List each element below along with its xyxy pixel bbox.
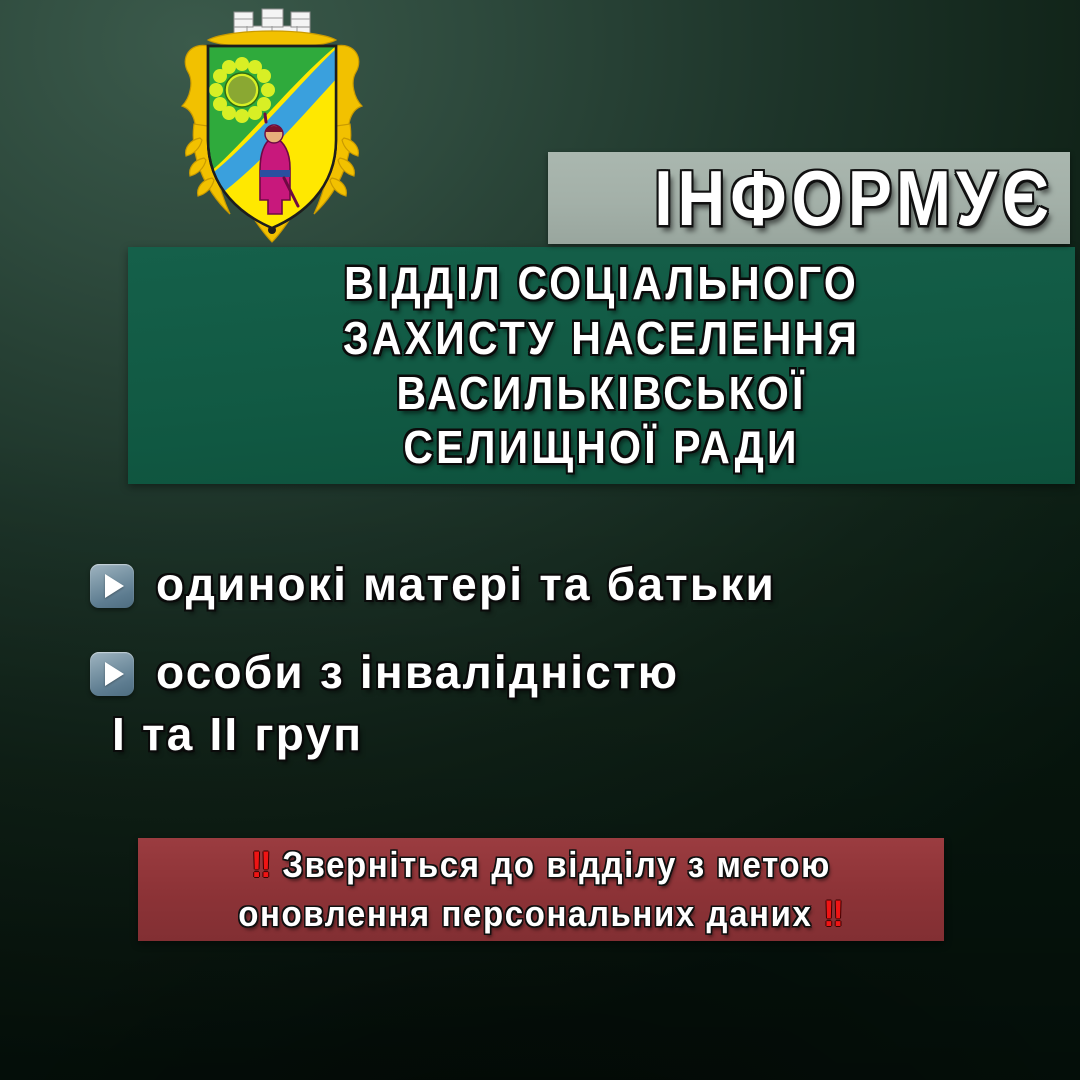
alert-line-1: ‼ Зверніться до відділу з метою [251,839,831,892]
eligibility-bullet-list: одинокі матері та батьки особи з інвалід… [90,556,990,794]
title-line-1: ВІДДІЛ СОЦІАЛЬНОГО [344,253,859,315]
bullet-label-1: одинокі матері та батьки [156,556,776,612]
list-item: одинокі матері та батьки [90,556,990,612]
title-line-4: СЕЛИЩНОЇ РАДИ [403,416,799,478]
list-item: особи з інвалідністю І та ІІ груп [90,644,990,762]
title-line-2: ЗАХИСТУ НАСЕЛЕННЯ [343,307,860,369]
alert-text-2: оновлення персональних даних [238,893,812,934]
alert-text-1: Зверніться до відділу з метою [282,844,831,885]
coat-of-arms-emblem [168,2,376,250]
informs-banner: ІНФОРМУЄ [548,152,1070,244]
bullet-label-2-subline: І та ІІ груп [112,706,679,762]
play-triangle-bullet-icon [90,652,134,696]
double-exclamation-icon-leading: ‼ [251,844,272,886]
call-to-action-alert-box: ‼ Зверніться до відділу з метою оновленн… [138,838,944,941]
department-title-block: ВІДДІЛ СОЦІАЛЬНОГО ЗАХИСТУ НАСЕЛЕННЯ ВАС… [128,247,1075,484]
play-triangle-bullet-icon [90,564,134,608]
informs-banner-label: ІНФОРМУЄ [654,159,1054,237]
double-exclamation-icon-trailing: ‼ [823,893,844,935]
poster-canvas: ІНФОРМУЄ ВІДДІЛ СОЦІАЛЬНОГО ЗАХИСТУ НАСЕ… [0,0,1080,1080]
title-line-3: ВАСИЛЬКІВСЬКОЇ [396,362,806,424]
bullet-label-2: особи з інвалідністю [156,644,679,700]
alert-line-2: оновлення персональних даних ‼ [238,887,844,940]
